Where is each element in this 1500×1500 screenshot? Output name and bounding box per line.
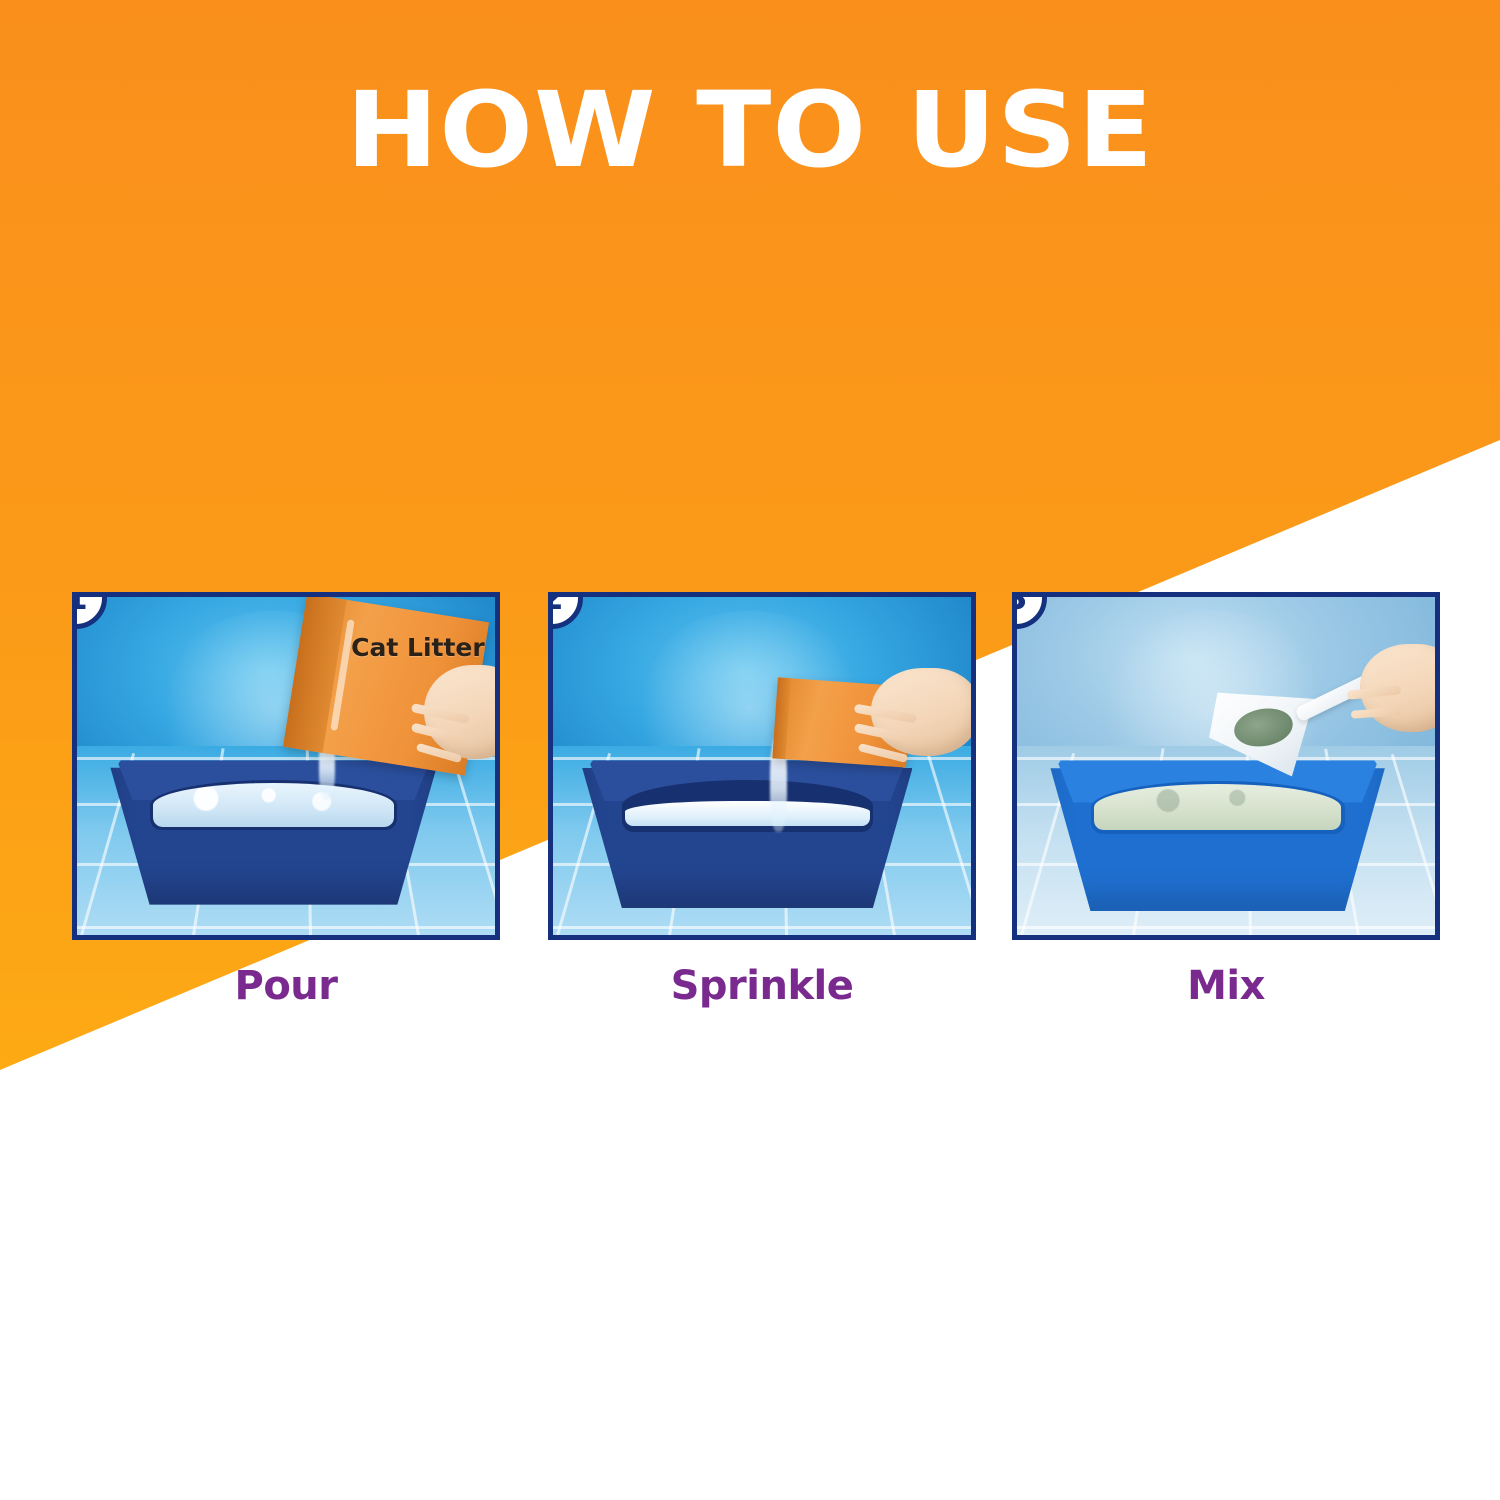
litter-tray-1 (110, 756, 436, 905)
step-caption-2: Sprinkle (548, 966, 976, 1006)
step-illustration-2: 2 (548, 592, 976, 940)
litter-fill-3 (1094, 784, 1341, 831)
step-illustration-1: Cat Litter 1 (72, 592, 500, 940)
step-card-2[interactable]: 2 Sprinkle (548, 592, 976, 1006)
litter-fill-1 (153, 783, 394, 828)
carton-label-1: Cat Litter (352, 633, 481, 662)
step-illustration-3: 3 (1012, 592, 1440, 940)
step-caption-1: Pour (72, 966, 500, 1006)
step-caption-3: Mix (1012, 966, 1440, 1006)
page-title: HOW TO USE (0, 78, 1500, 182)
how-to-use-steps: Cat Litter 1 Pour (0, 592, 1500, 1032)
step-card-1[interactable]: Cat Litter 1 Pour (72, 592, 500, 1006)
step-card-3[interactable]: 3 Mix (1012, 592, 1440, 1006)
litter-fill-2 (625, 801, 869, 825)
litter-tray-2 (582, 756, 912, 908)
litter-tray-3 (1050, 756, 1384, 911)
